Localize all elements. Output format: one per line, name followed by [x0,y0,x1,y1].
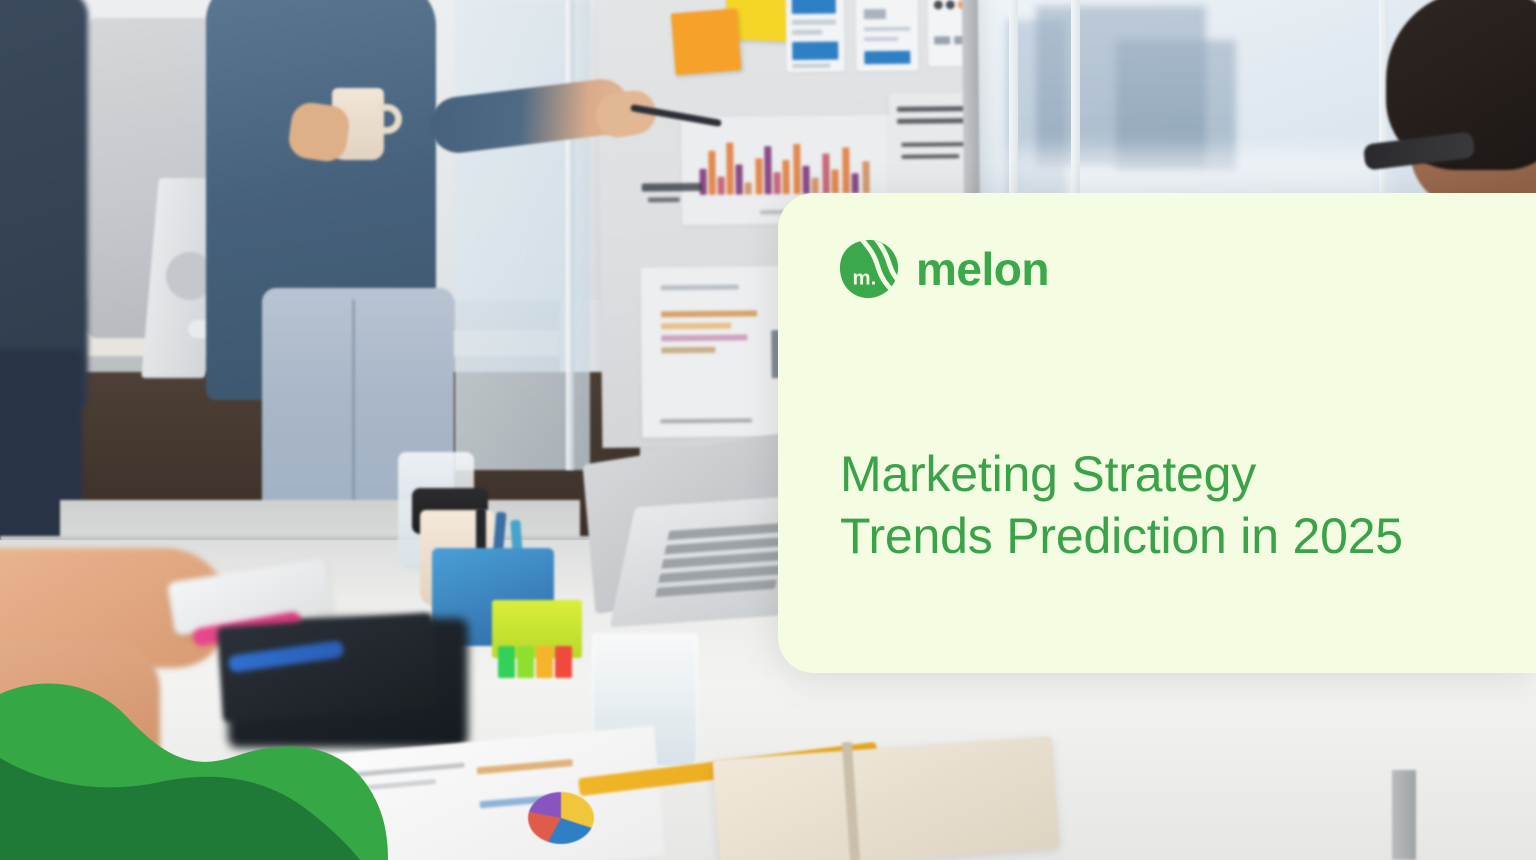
brand-lockup: m. melon [838,238,1049,300]
wireframe-printout [855,0,918,71]
bar-chart-graphic [699,135,880,195]
melon-leaf-mark-icon: m. [838,238,900,300]
headline-line-1: Marketing Strategy [840,446,1256,502]
decorative-wave-blobs [0,660,400,860]
donut-chart-on-report [528,792,594,844]
sticky-flag [517,646,534,678]
left-person-jacket [0,0,88,410]
sticky-note-orange [671,8,742,75]
content-card: m. melon Marketing Strategy Trends Predi… [778,193,1536,673]
presenter-hand-holding-mug [286,100,351,164]
glass-partition-edge [566,0,574,470]
sticky-flag [536,646,553,678]
sticky-flag [555,646,572,678]
table-leg [1392,770,1416,860]
melon-mark-letter: m. [853,268,877,290]
wireframe-printout [786,0,845,72]
marker-scribble [642,183,702,192]
page-title: Marketing Strategy Trends Prediction in … [840,443,1480,567]
sticky-flag [498,646,515,678]
headline-line-2: Trends Prediction in 2025 [840,505,1480,567]
brand-wordmark: melon [916,246,1049,292]
marker-scribble [648,197,680,202]
slide-canvas: m. melon Marketing Strategy Trends Predi… [0,0,1536,860]
